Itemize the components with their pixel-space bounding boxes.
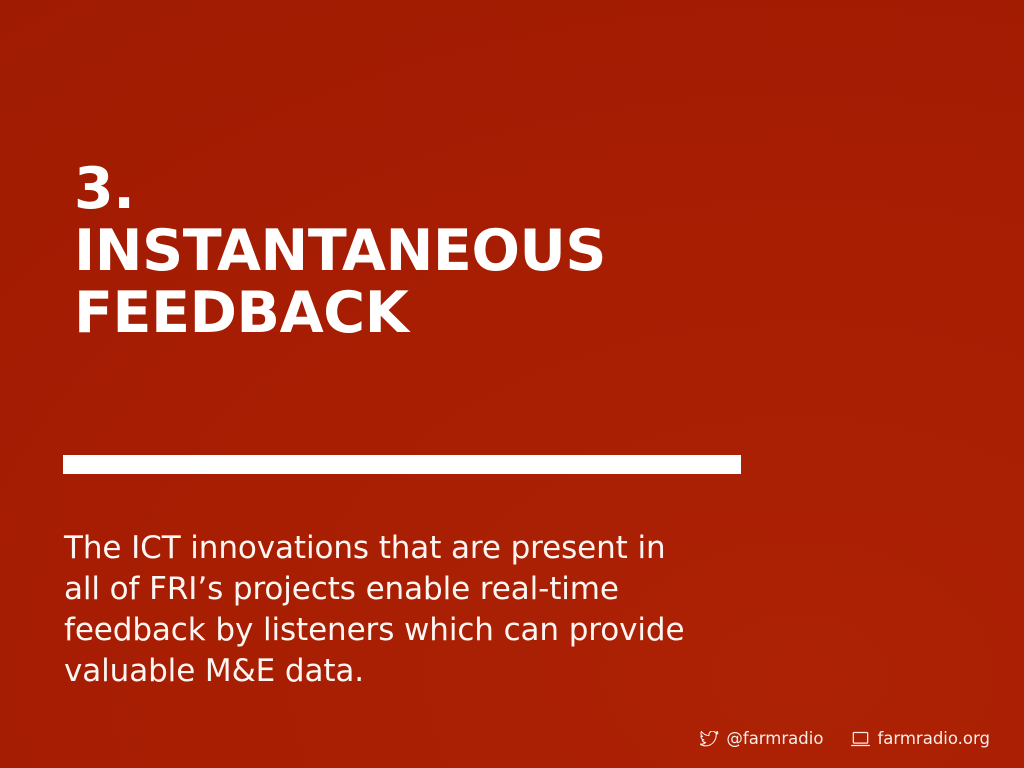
title-line-2: FEEDBACK <box>74 282 714 344</box>
body-line-1: The ICT innovations that are present in <box>64 528 764 569</box>
footer-twitter-label: @farmradio <box>726 730 823 748</box>
twitter-bird-icon <box>700 731 719 748</box>
title-line-1: INSTANTANEOUS <box>74 220 714 282</box>
title-divider-rule <box>63 455 741 474</box>
body-line-4: valuable M&E data. <box>64 651 764 692</box>
slide-body-text: The ICT innovations that are present in … <box>64 528 764 692</box>
laptop-icon <box>851 731 870 748</box>
footer-website-label: farmradio.org <box>877 730 990 748</box>
slide-title: 3. INSTANTANEOUS FEEDBACK <box>74 158 714 344</box>
body-line-2: all of FRI’s projects enable real-time <box>64 569 764 610</box>
title-number: 3. <box>74 158 714 220</box>
footer-website-link[interactable]: farmradio.org <box>851 730 990 748</box>
footer-twitter-handle[interactable]: @farmradio <box>700 730 823 748</box>
body-line-3: feedback by listeners which can provide <box>64 610 764 651</box>
slide-footer: @farmradio farmradio.org <box>700 730 990 748</box>
presentation-slide: 3. INSTANTANEOUS FEEDBACK The ICT innova… <box>0 0 1024 768</box>
